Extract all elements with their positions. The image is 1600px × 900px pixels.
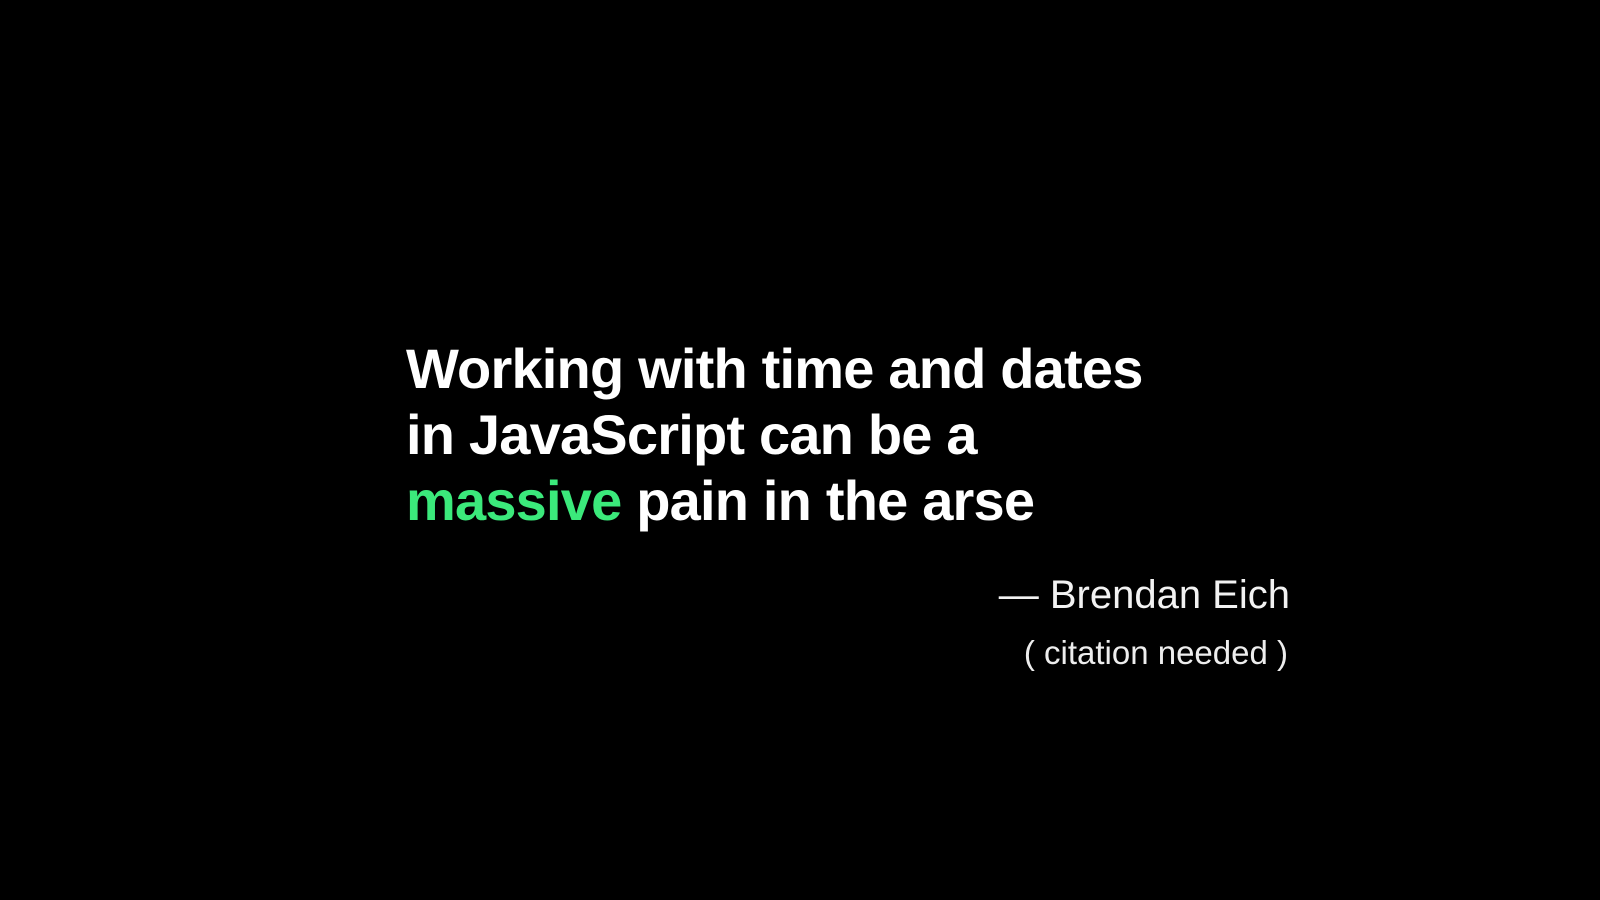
attribution-author: — Brendan Eich [600, 568, 1290, 622]
quote-line-2: in JavaScript can be a [406, 402, 1306, 468]
attribution-block: — Brendan Eich ( citation needed ) [600, 568, 1290, 676]
quote-slide: Working with time and dates in JavaScrip… [0, 0, 1600, 900]
quote-block: Working with time and dates in JavaScrip… [406, 336, 1306, 534]
quote-highlight-massive: massive [406, 469, 621, 532]
attribution-citation: ( citation needed ) [600, 622, 1290, 676]
quote-line-3: massive pain in the arse [406, 468, 1306, 534]
quote-line-3-rest: pain in the arse [621, 469, 1034, 532]
quote-line-1: Working with time and dates [406, 336, 1306, 402]
